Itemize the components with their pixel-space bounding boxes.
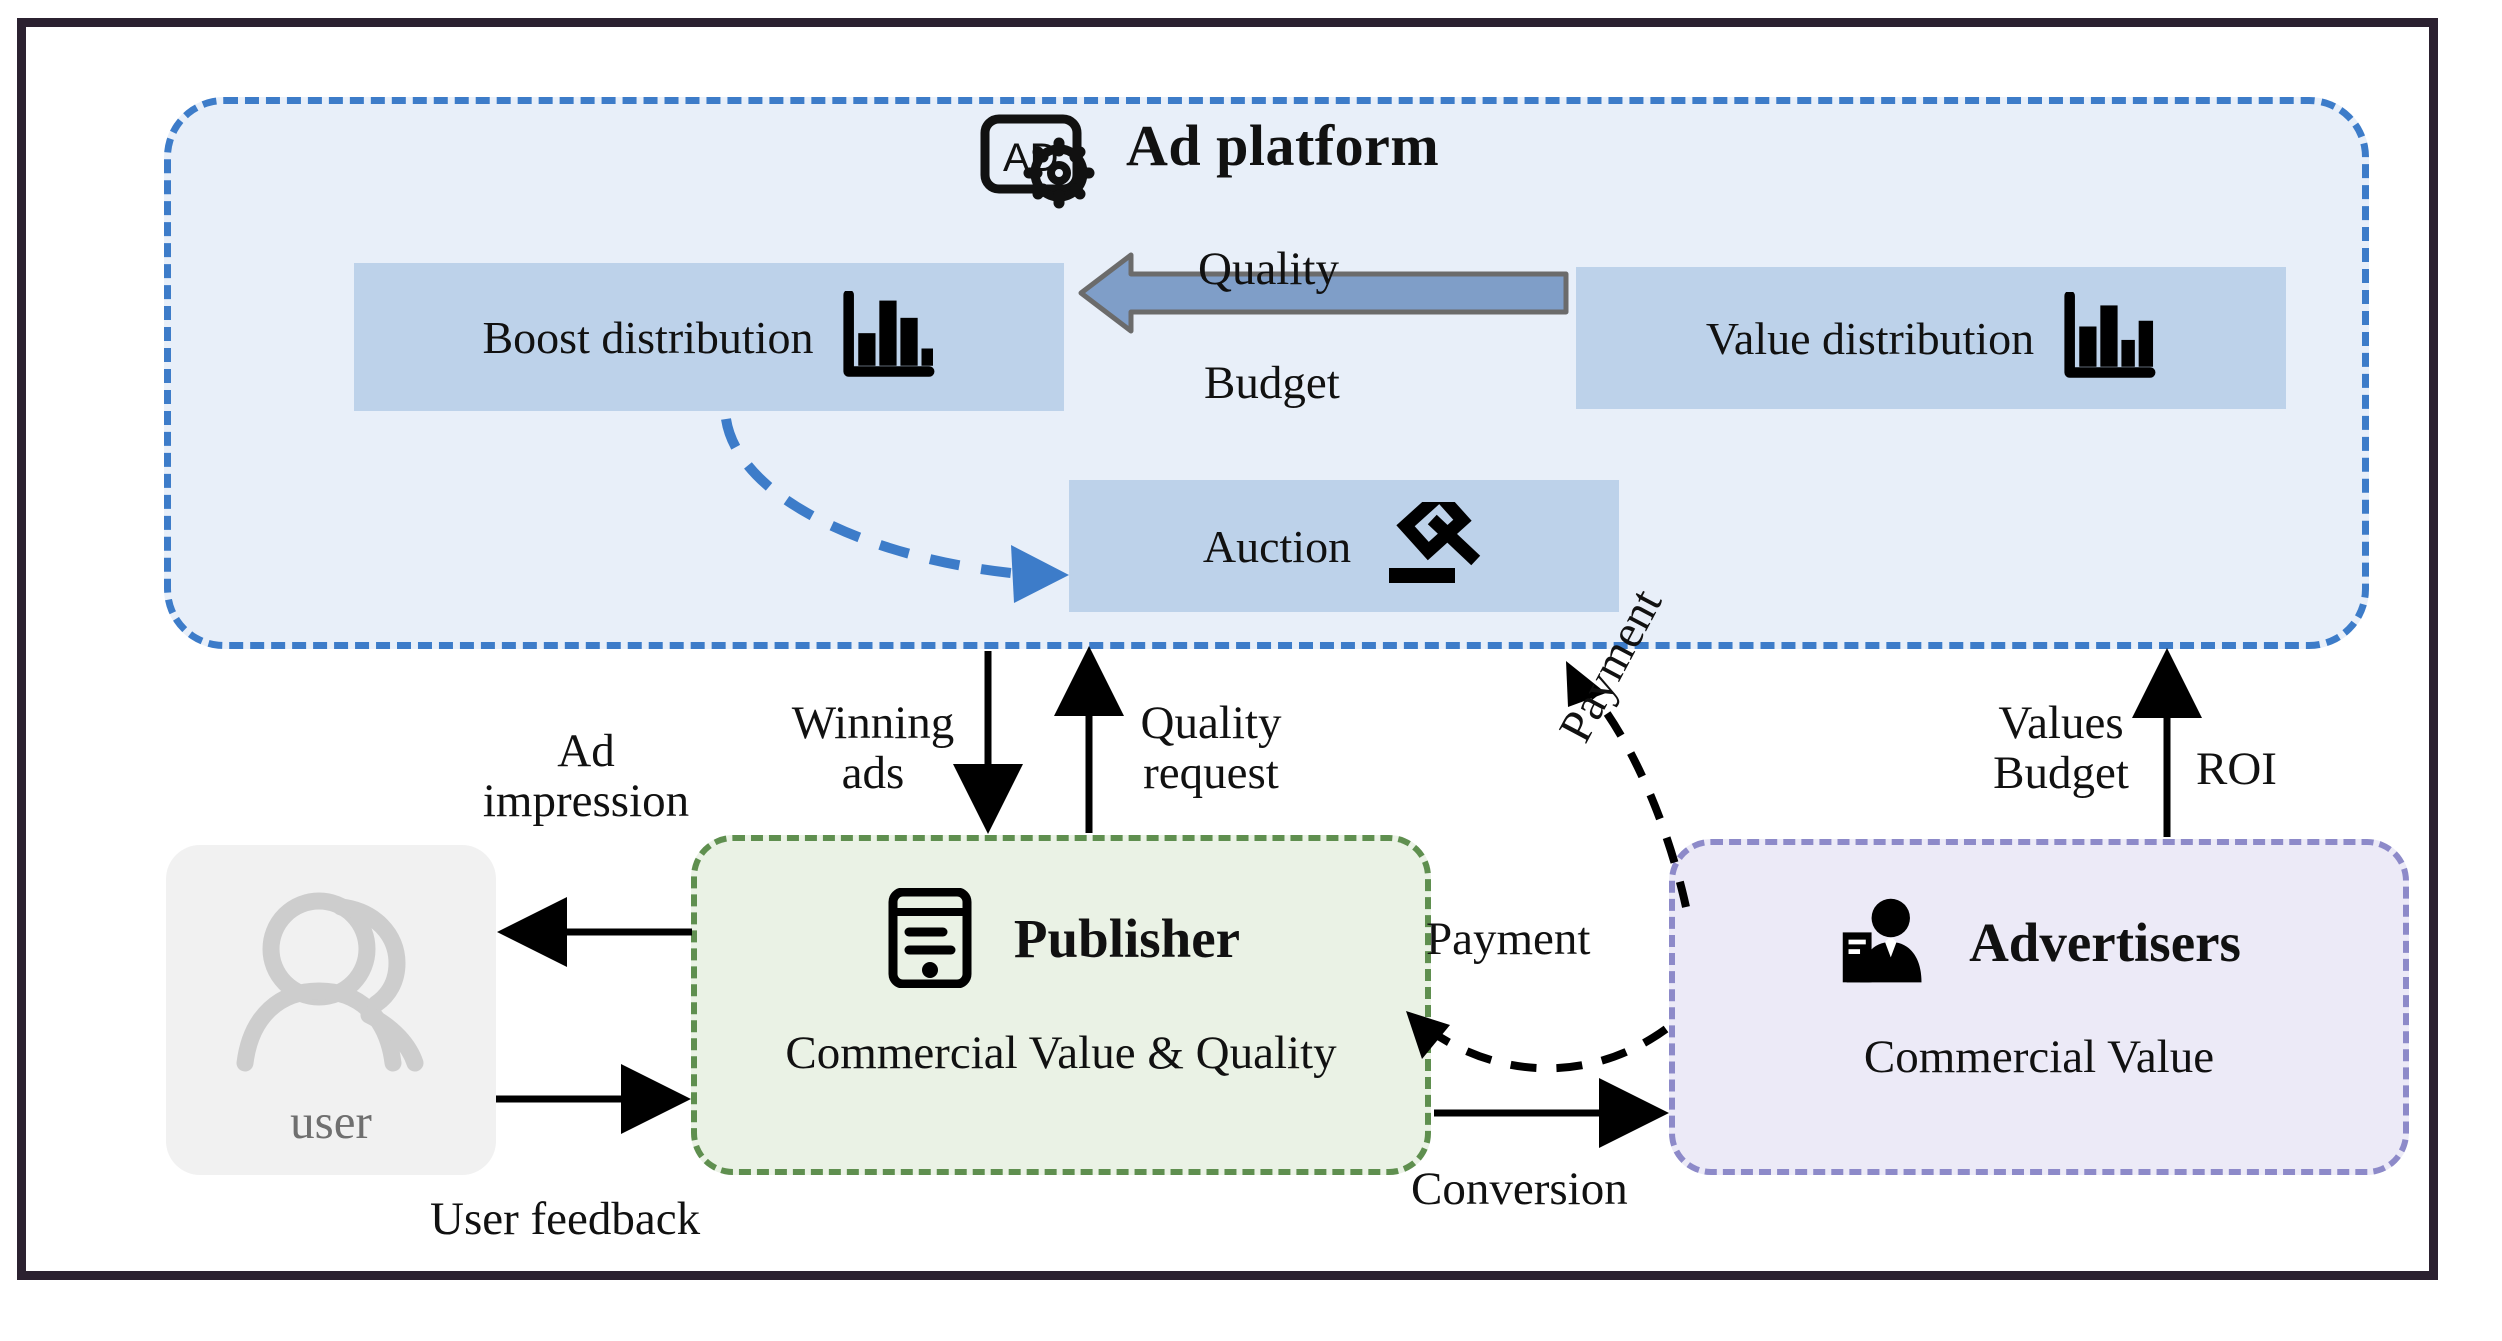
diagram-frame: AD Ad platform Boost distribution [17,18,2438,1280]
user-icon [221,887,441,1082]
user-label: user [166,1093,496,1150]
value-distribution-box[interactable]: Value distribution [1576,267,2286,409]
quality-request-label: Quality request [1106,699,1316,799]
ad-impression-label: Ad impression [446,727,726,827]
auction-label: Auction [1203,520,1351,573]
quality-label: Quality [1198,245,1339,295]
advertisers-title: Advertisers [1969,911,2241,974]
device-document-icon [882,888,978,988]
boost-distribution-label: Boost distribution [483,311,814,364]
budget-label: Budget [1204,359,1340,409]
advertisers-subtitle: Commercial Value [1675,1030,2403,1084]
advertisers-box[interactable]: Advertisers Commercial Value [1669,839,2409,1175]
bar-chart-icon [2060,292,2156,384]
payment-to-publisher-label: Payment [1426,915,1590,965]
winning-ads-label: Winning ads [778,699,968,799]
publisher-box[interactable]: Publisher Commercial Value & Quality [691,835,1431,1175]
conversion-label: Conversion [1411,1165,1628,1215]
payment-to-publisher-arrow [1412,1017,1666,1068]
boost-distribution-box[interactable]: Boost distribution [354,263,1064,411]
roi-label: ROI [2196,745,2277,795]
bar-chart-icon [839,291,935,383]
gavel-icon [1385,502,1485,590]
page-title: Ad platform [1126,112,1439,179]
user-box[interactable]: user [166,845,496,1175]
value-distribution-label: Value distribution [1706,312,2034,365]
advertisers-header: Advertisers [1675,887,2403,997]
publisher-title: Publisher [1014,907,1240,970]
businessman-icon [1837,892,1933,992]
values-budget-label: Values Budget [1966,699,2156,799]
publisher-header: Publisher [697,883,1425,993]
publisher-subtitle: Commercial Value & Quality [697,1026,1425,1080]
user-feedback-label: User feedback [430,1195,700,1245]
auction-box[interactable]: Auction [1069,480,1619,612]
